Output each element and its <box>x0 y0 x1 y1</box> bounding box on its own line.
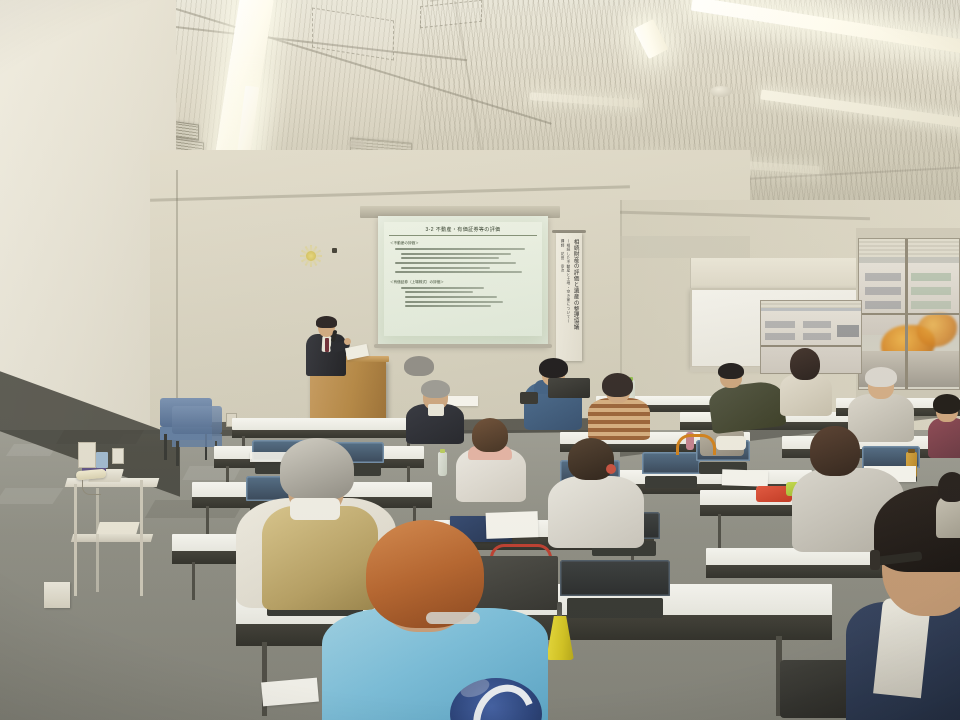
exterior-window <box>765 321 795 328</box>
eyeglasses-temple <box>870 550 880 570</box>
table <box>232 418 422 438</box>
attendee-hair <box>404 356 434 376</box>
window-mullion <box>761 345 861 347</box>
side-table-leg <box>74 484 77 596</box>
presenter-tie <box>325 338 329 352</box>
paper-document <box>722 469 769 487</box>
wall-screen-housing <box>690 258 859 288</box>
attendee-hair <box>568 438 614 480</box>
slide-text-line <box>405 305 491 307</box>
attendee-back-small <box>404 356 434 386</box>
attendee-12 <box>928 398 960 456</box>
slide-title: 3-2 不動産・有価証券等の評価 <box>389 226 537 236</box>
autumn-foliage <box>917 313 957 347</box>
attendee-hair <box>933 394 960 414</box>
slide-text-line <box>395 262 516 264</box>
exterior-window <box>911 287 951 295</box>
exterior-window <box>803 333 831 340</box>
attendee-09 <box>456 420 526 498</box>
attendee-11 <box>780 350 832 412</box>
side-table <box>66 478 158 596</box>
wall-plate <box>78 442 96 468</box>
projection-screen: 3-2 不動産・有価証券等の評価 ＜不動産の評価＞ ＜有価証券（上場株式）の評価… <box>378 216 548 346</box>
attendee-collar <box>428 404 444 416</box>
presenter-hair <box>316 316 337 328</box>
exterior-window <box>837 325 859 337</box>
attendee-06 <box>588 376 650 438</box>
banner-speaker-line: 講師 花田 幸次 <box>560 239 564 361</box>
attendee-hair <box>790 348 820 380</box>
exterior-window <box>911 273 951 281</box>
exterior-window <box>865 273 901 281</box>
slide-section-heading-1: ＜不動産の評価＞ <box>390 241 537 246</box>
bag-handle <box>676 434 716 455</box>
necklace <box>426 612 480 624</box>
side-table-paper <box>96 522 139 534</box>
floor-tile <box>0 488 63 504</box>
exterior-window <box>803 321 831 328</box>
banner-main-text: 相続財産の評価と遺産の整理協議 <box>572 239 578 361</box>
exterior-window <box>865 301 901 309</box>
side-table-leg <box>140 480 143 596</box>
window-blind[interactable] <box>761 301 861 308</box>
slide-text-line <box>405 296 497 298</box>
attendee-hair <box>938 472 960 502</box>
sun-wall-decoration-icon <box>300 245 322 267</box>
drink-bottle <box>438 452 447 476</box>
wall-soffit <box>620 236 750 258</box>
attendee-clothing <box>548 476 644 548</box>
presenter-hand <box>344 338 351 345</box>
projector-device <box>548 378 590 398</box>
slide-text-line <box>401 267 490 269</box>
slide-text-line <box>405 291 473 293</box>
attendee-10 <box>710 366 784 428</box>
slide-text-line <box>401 257 499 259</box>
attendee-clothing <box>707 380 786 435</box>
paper-document <box>261 678 319 707</box>
window-mullion <box>859 313 959 315</box>
wall-mount-icon <box>332 248 337 253</box>
slide-text-line <box>401 253 511 255</box>
window-blind[interactable] <box>859 239 959 257</box>
power-outlet-icon[interactable] <box>112 448 124 464</box>
attendee-hair <box>539 358 568 378</box>
chair <box>560 560 670 618</box>
floor-tile <box>182 466 241 480</box>
attendee-hair <box>865 367 897 387</box>
attendee-hair <box>472 418 508 452</box>
vertical-banner: 講師 花田 幸次 ～相続した不動産と土地・空き家について～ 相続財産の評価と遺産… <box>556 233 582 361</box>
projection-screen-bottom-bar <box>374 344 552 348</box>
exterior-window <box>765 333 795 340</box>
attendee-hair <box>718 363 744 379</box>
attendee-hair <box>810 426 860 476</box>
slide-text-line <box>405 301 503 303</box>
exterior-window <box>865 287 901 295</box>
attendee-clothing <box>936 496 960 538</box>
hair-clip <box>606 464 616 474</box>
attendee-hair <box>602 373 633 397</box>
pencil-case <box>546 608 574 660</box>
attendee-clothing <box>928 418 960 458</box>
slide-text-line <box>395 271 522 273</box>
wall-notice <box>96 452 108 468</box>
slide-text-line <box>401 287 484 289</box>
presenter-person <box>300 318 380 380</box>
attendee-edge <box>936 474 960 534</box>
attendee-hair <box>280 438 354 500</box>
pencil-case-body <box>546 616 574 660</box>
slide-text-line <box>395 248 525 250</box>
chair <box>642 452 700 488</box>
exterior-window <box>911 301 951 309</box>
slide-section-heading-2: ＜有価証券（上場株式）の評価＞ <box>390 280 537 285</box>
seminar-room-photograph: 3-2 不動産・有価証券等の評価 ＜不動産の評価＞ ＜有価証券（上場株式）の評価… <box>0 0 960 720</box>
attendee-13 <box>548 440 644 544</box>
equipment-box <box>520 392 538 404</box>
white-cloth <box>716 436 746 450</box>
slide-content: 3-2 不動産・有価証券等の評価 ＜不動産の評価＞ ＜有価証券（上場株式）の評価… <box>384 222 542 336</box>
attendee-clothing <box>780 374 832 416</box>
banner-sub-text: ～相続した不動産と土地・空き家について～ <box>566 239 570 361</box>
telephone-cord <box>82 480 101 495</box>
side-table-leg <box>96 488 99 592</box>
attendee-collar <box>290 498 340 520</box>
wall-mounted-box <box>44 582 70 608</box>
ceiling-speaker-icon <box>710 86 732 97</box>
ceiling-speaker-icon <box>348 140 364 148</box>
attendee-clothing <box>588 398 650 440</box>
attendee-02 <box>314 524 548 720</box>
